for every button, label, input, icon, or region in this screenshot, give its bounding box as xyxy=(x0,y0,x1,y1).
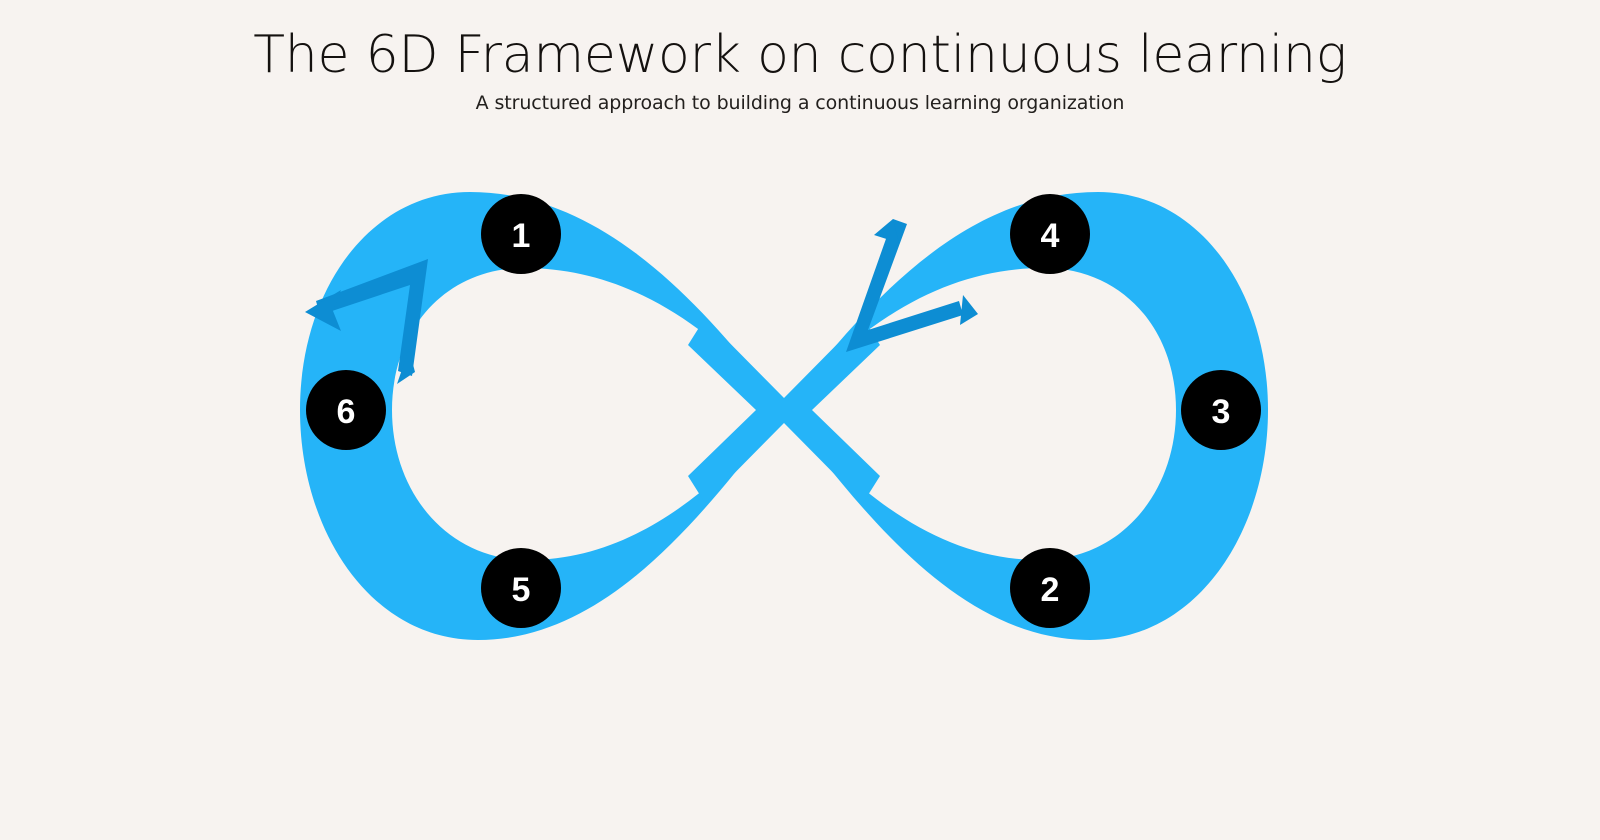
step-badge-1[interactable]: 1 xyxy=(481,194,561,274)
step-badge-6-label: 6 xyxy=(337,393,356,431)
step-badge-3-label: 3 xyxy=(1212,393,1231,431)
step-badge-4[interactable]: 4 xyxy=(1010,194,1090,274)
step-badge-5[interactable]: 5 xyxy=(481,548,561,628)
step-badge-1-label: 1 xyxy=(512,217,531,255)
slide-canvas: The 6D Framework on continuous learning … xyxy=(0,0,1600,840)
infinity-ribbon xyxy=(300,192,1268,640)
step-badge-4-label: 4 xyxy=(1041,217,1060,255)
step-badge-2-label: 2 xyxy=(1041,571,1060,609)
step-badge-6[interactable]: 6 xyxy=(306,370,386,450)
step-badge-2[interactable]: 2 xyxy=(1010,548,1090,628)
step-badge-5-label: 5 xyxy=(512,571,531,609)
step-badge-3[interactable]: 3 xyxy=(1181,370,1261,450)
infinity-loop-diagram: 1 2 3 4 5 6 xyxy=(0,0,1600,840)
